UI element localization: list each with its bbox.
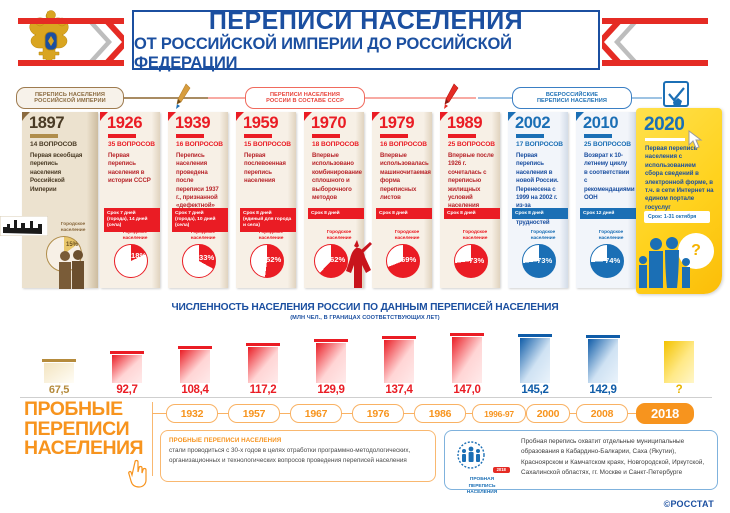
trial-year-2008[interactable]: 2008	[576, 404, 628, 423]
census-year-1959: 1959	[243, 114, 278, 133]
census-column-1979[interactable]: 1979 16 ВОПРОСОВ Впервые использовалась …	[372, 112, 432, 288]
census-column-1926[interactable]: 1926 35 ВОПРОСОВ Первая перепись населен…	[100, 112, 160, 288]
bar-group-1939: 108,4	[164, 350, 226, 396]
bar-value-1979: 137,4	[368, 384, 430, 396]
census-desc-2020: Первая перепись населения с использовани…	[645, 145, 715, 212]
urban-value-1926: 18%	[131, 251, 146, 260]
census-rule	[244, 134, 272, 138]
census-term-1970: Срок 8 дней	[308, 208, 364, 219]
urban-label-2002: Городскоенаселение	[520, 230, 566, 242]
census-year-2020: 2020	[644, 114, 684, 136]
urban-value-1959: 52%	[266, 255, 281, 264]
bar-cap	[586, 335, 620, 338]
census-questions-2010: 25 ВОПРОСОВ	[584, 141, 631, 148]
page-title: ПЕРЕПИСИ НАСЕЛЕНИЯ	[209, 8, 523, 34]
trial-year-1996-97[interactable]: 1996-97	[472, 404, 526, 423]
period-line-rf-right	[630, 97, 662, 99]
trial-logo-line2: ПЕРЕПИСЬ НАСЕЛЕНИЯ	[453, 484, 511, 496]
census-rule	[176, 134, 204, 138]
census-term-1959: Срок 8 дней (единый для города и села)	[240, 208, 296, 232]
trial-year-1986[interactable]: 1986	[414, 404, 466, 423]
bar-group-2002: 145,2	[504, 338, 566, 396]
trial-line-7	[628, 413, 636, 414]
census-term-1926: Срок 7 дней (города), 14 дней (села)	[104, 208, 160, 232]
census-year-1970: 1970	[311, 114, 346, 133]
census-term-2002: Срок 8 дней	[512, 208, 568, 219]
period-label-federation: ВСЕРОССИЙСКИЕ ПЕРЕПИСИ НАСЕЛЕНИЯ	[512, 87, 632, 109]
trial-info-left-body: стали проводиться с 30-х годов в целях о…	[169, 446, 427, 466]
trial-title-line1: ПРОБНЫЕ	[24, 400, 154, 420]
census-year-1939: 1939	[175, 114, 210, 133]
census-questions-1897: 14 ВОПРОСОВ	[30, 141, 77, 148]
urban-label-2010: Городскоенаселение	[588, 230, 634, 242]
census-desc-1970: Впервые использовано комбинирование спло…	[312, 152, 358, 202]
trial-logo-line1: ПРОБНАЯ	[453, 477, 511, 483]
trial-line-1	[218, 413, 228, 414]
bar-1989	[452, 337, 482, 383]
trial-census-logo: 2018 ПРОБНАЯ ПЕРЕПИСЬ НАСЕЛЕНИЯ	[453, 441, 511, 496]
urban-value-1939: 33%	[199, 253, 214, 262]
census-questions-2002: 17 ВОПРОСОВ	[516, 141, 563, 148]
trial-info-left-heading: ПРОБНЫЕ ПЕРЕПИСИ НАСЕЛЕНИЯ	[169, 437, 427, 444]
census-questions-1970: 18 ВОПРОСОВ	[312, 141, 359, 148]
bar-value-1897: 67,5	[28, 384, 90, 396]
census-desc-1989: Впервые после 1926 г. сочеталась с переп…	[448, 152, 494, 211]
census-desc-1939: Перепись населения проведена после переп…	[176, 152, 222, 211]
bar-cap	[42, 359, 76, 362]
census-rule-2020	[645, 138, 685, 141]
period-rf-line2: ПЕРЕПИСИ НАСЕЛЕНИЯ	[537, 98, 607, 104]
census-year-1979: 1979	[379, 114, 414, 133]
trial-line-4	[404, 413, 414, 414]
bar-value-1959: 117,2	[232, 384, 294, 396]
census-desc-1897: Первая всеобщая перепись населения Росси…	[30, 152, 86, 194]
old-couple-silhouette-icon	[52, 249, 92, 289]
trial-year-1976[interactable]: 1976	[352, 404, 404, 423]
period-label-imperial: ПЕРЕПИСЬ НАСЕЛЕНИЯ РОССИЙСКОЙ ИМПЕРИИ	[16, 87, 124, 109]
title-box: ПЕРЕПИСИ НАСЕЛЕНИЯ ОТ РОССИЙСКОЙ ИМПЕРИИ…	[132, 10, 600, 70]
census-column-2020[interactable]: 2020 Первая перепись населения с использ…	[636, 108, 722, 294]
census-questions-1959: 15 ВОПРОСОВ	[244, 141, 291, 148]
census-questions-1989: 25 ВОПРОСОВ	[448, 141, 495, 148]
bar-group-1959: 117,2	[232, 347, 294, 396]
bar-cap	[382, 336, 416, 339]
bar-1970	[316, 343, 346, 383]
urban-label-1939: Городскоенаселение	[180, 230, 226, 242]
bar-group-1926: 92,7	[96, 355, 158, 396]
bar-2020	[664, 341, 694, 383]
census-column-1989[interactable]: 1989 25 ВОПРОСОВ Впервые после 1926 г. с…	[440, 112, 500, 288]
trial-info-left: ПРОБНЫЕ ПЕРЕПИСИ НАСЕЛЕНИЯ стали проводи…	[160, 430, 436, 482]
census-column-1939[interactable]: 1939 16 ВОПРОСОВ Перепись населения пров…	[168, 112, 228, 288]
urban-pie-1926	[114, 244, 148, 278]
urban-label-1897: Городскоенаселение	[50, 222, 96, 234]
ribbon-left-decor	[4, 16, 124, 68]
urban-label-1959: Городскоенаселение	[248, 230, 294, 242]
motherland-statue-icon	[340, 238, 374, 288]
bar-cap	[662, 337, 696, 340]
bar-cap	[518, 334, 552, 337]
urban-label-1979: Городскоенаселение	[384, 230, 430, 242]
census-term-1979: Срок 8 дней	[376, 208, 432, 219]
census-rule	[584, 134, 612, 138]
census-column-1959[interactable]: 1959 15 ВОПРОСОВ Первая послевоенная пер…	[236, 112, 296, 288]
bar-value-2010: 142,9	[572, 384, 634, 396]
census-desc-1926: Первая перепись населения в истории СССР	[108, 152, 154, 186]
urban-value-2002: 73%	[537, 256, 552, 265]
census-column-1970[interactable]: 1970 18 ВОПРОСОВ Впервые использовано ко…	[304, 112, 364, 288]
census-term-1989: Срок 8 дней	[444, 208, 500, 219]
bar-group-2010: 142,9	[572, 339, 634, 396]
bar-2010	[588, 339, 618, 383]
city-skyline-badge-icon	[0, 216, 48, 236]
bar-cap	[314, 339, 348, 342]
population-chart: ЧИСЛЕННОСТЬ НАСЕЛЕНИЯ РОССИИ ПО ДАННЫМ П…	[0, 296, 730, 396]
trial-census-title: ПРОБНЫЕ ПЕРЕПИСИ НАСЕЛЕНИЯ	[24, 400, 154, 459]
bar-value-1970: 129,9	[300, 384, 362, 396]
header: ПЕРЕПИСИ НАСЕЛЕНИЯ ОТ РОССИЙСКОЙ ИМПЕРИИ…	[0, 0, 730, 78]
census-rule	[448, 134, 476, 138]
pencil-brown-icon	[175, 82, 191, 112]
trial-line-3	[342, 413, 352, 414]
bar-group-1989: 147,0	[436, 337, 498, 396]
trial-line-2	[280, 413, 290, 414]
census-rule	[380, 134, 408, 138]
census-term-2010: Срок 12 дней	[580, 208, 636, 219]
bar-group-1979: 137,4	[368, 340, 430, 396]
census-year-1897: 1897	[29, 114, 64, 133]
pencil-red-icon	[443, 82, 459, 112]
census-rule	[30, 134, 58, 138]
census-year-2002: 2002	[515, 114, 550, 133]
urban-label-1989: Городскоенаселение	[452, 230, 498, 242]
trial-year-1967[interactable]: 1967	[290, 404, 342, 423]
census-term-1939: Срок 7 дней (города), 10 дней (села)	[172, 208, 228, 232]
bar-1897	[44, 363, 74, 383]
bar-1959	[248, 347, 278, 383]
bar-cap	[178, 346, 212, 349]
bar-value-2020: ?	[648, 384, 710, 396]
urban-label-1926: Городскоенаселение	[112, 230, 158, 242]
trial-year-1957[interactable]: 1957	[228, 404, 280, 423]
census-questions-1926: 35 ВОПРОСОВ	[108, 141, 155, 148]
census-term-2020: Срок: 1-31 октября	[644, 211, 710, 223]
trial-title-line3: НАСЕЛЕНИЯ	[24, 439, 154, 459]
page-subtitle: ОТ РОССИЙСКОЙ ИМПЕРИИ ДО РОССИЙСКОЙ ФЕДЕ…	[134, 35, 598, 71]
bar-2002	[520, 338, 550, 383]
period-line-ussr-left	[208, 97, 248, 99]
period-legend-bar: ПЕРЕПИСЬ НАСЕЛЕНИЯ РОССИЙСКОЙ ИМПЕРИИ ПЕ…	[0, 84, 730, 114]
trial-year-2018[interactable]: 2018	[636, 403, 694, 424]
trial-year-1932[interactable]: 1932	[166, 404, 218, 423]
urban-value-1989: 73%	[469, 256, 484, 265]
period-ussr-line2: РОССИИ В СОСТАВЕ СССР	[266, 98, 344, 104]
census-rule	[516, 134, 544, 138]
bar-cap	[246, 343, 280, 346]
trial-census-section: ПРОБНЫЕ ПЕРЕПИСИ НАСЕЛЕНИЯ 1932 1957 196…	[0, 398, 730, 513]
chart-subtitle: (МЛН ЧЕЛ., В ГРАНИЦАХ СООТВЕТСТВУЮЩИХ ЛЕ…	[0, 315, 730, 321]
census-year-1989: 1989	[447, 114, 482, 133]
bar-value-1939: 108,4	[164, 384, 226, 396]
bar-group-2020: ?	[648, 341, 710, 396]
bar-1926	[112, 355, 142, 383]
census-desc-2010: Возврат к 10-летнему циклу в соответстви…	[584, 152, 630, 202]
bar-cap	[110, 351, 144, 354]
bar-value-2002: 145,2	[504, 384, 566, 396]
bar-value-1926: 92,7	[96, 384, 158, 396]
urban-value-1897: 15%	[66, 242, 78, 248]
urban-value-1979: 69%	[401, 255, 416, 264]
period-line-rf-left	[478, 97, 514, 99]
period-line-imperial	[124, 97, 208, 99]
cursor-arrow-icon	[688, 130, 704, 150]
footer-copyright: ©РОССТАТ	[664, 499, 714, 509]
chart-title: ЧИСЛЕННОСТЬ НАСЕЛЕНИЯ РОССИИ ПО ДАННЫМ П…	[0, 302, 730, 313]
census-rule	[312, 134, 340, 138]
people-group-logo-icon	[454, 441, 488, 471]
census-questions-1939: 16 ВОПРОСОВ	[176, 141, 223, 148]
census-year-1926: 1926	[107, 114, 142, 133]
census-columns: 1897 14 ВОПРОСОВ Первая всеобщая перепис…	[0, 112, 730, 300]
bar-1979	[384, 340, 414, 383]
bar-group-1970: 129,9	[300, 343, 362, 396]
census-column-2010[interactable]: 2010 25 ВОПРОСОВ Возврат к 10-летнему ци…	[576, 112, 636, 288]
urban-value-2010: 74%	[605, 256, 620, 265]
census-column-2002[interactable]: 2002 17 ВОПРОСОВ Первая перепись населен…	[508, 112, 568, 288]
bar-1939	[180, 350, 210, 383]
census-rule	[108, 134, 136, 138]
trial-info-right: 2018 ПРОБНАЯ ПЕРЕПИСЬ НАСЕЛЕНИЯ Пробная …	[444, 430, 718, 490]
family-silhouette-icon	[634, 232, 698, 288]
bar-cap	[450, 333, 484, 336]
period-label-ussr: ПЕРЕПИСИ НАСЕЛЕНИЯ РОССИИ В СОСТАВЕ СССР	[245, 87, 365, 109]
census-questions-1979: 16 ВОПРОСОВ	[380, 141, 427, 148]
census-column-1897[interactable]: 1897 14 ВОПРОСОВ Первая всеобщая перепис…	[22, 112, 98, 288]
trial-line-0	[152, 413, 166, 414]
pointing-hand-icon	[126, 458, 150, 488]
trial-year-2000[interactable]: 2000	[526, 404, 570, 423]
period-imperial-line2: РОССИЙСКОЙ ИМПЕРИИ	[34, 98, 106, 104]
census-year-2010: 2010	[583, 114, 618, 133]
period-line-ussr-right	[363, 97, 476, 99]
census-desc-1979: Впервые использовалась машиночитаемая фо…	[380, 152, 426, 202]
bar-group-1897: 67,5	[28, 363, 90, 396]
trial-logo-badge-year: 2018	[493, 467, 510, 473]
trial-info-right-body: Пробная перепись охватит отдельные муниц…	[521, 437, 709, 478]
census-desc-1959: Первая послевоенная перепись населения	[244, 152, 290, 186]
bar-value-1989: 147,0	[436, 384, 498, 396]
ribbon-right-decor	[602, 16, 722, 68]
